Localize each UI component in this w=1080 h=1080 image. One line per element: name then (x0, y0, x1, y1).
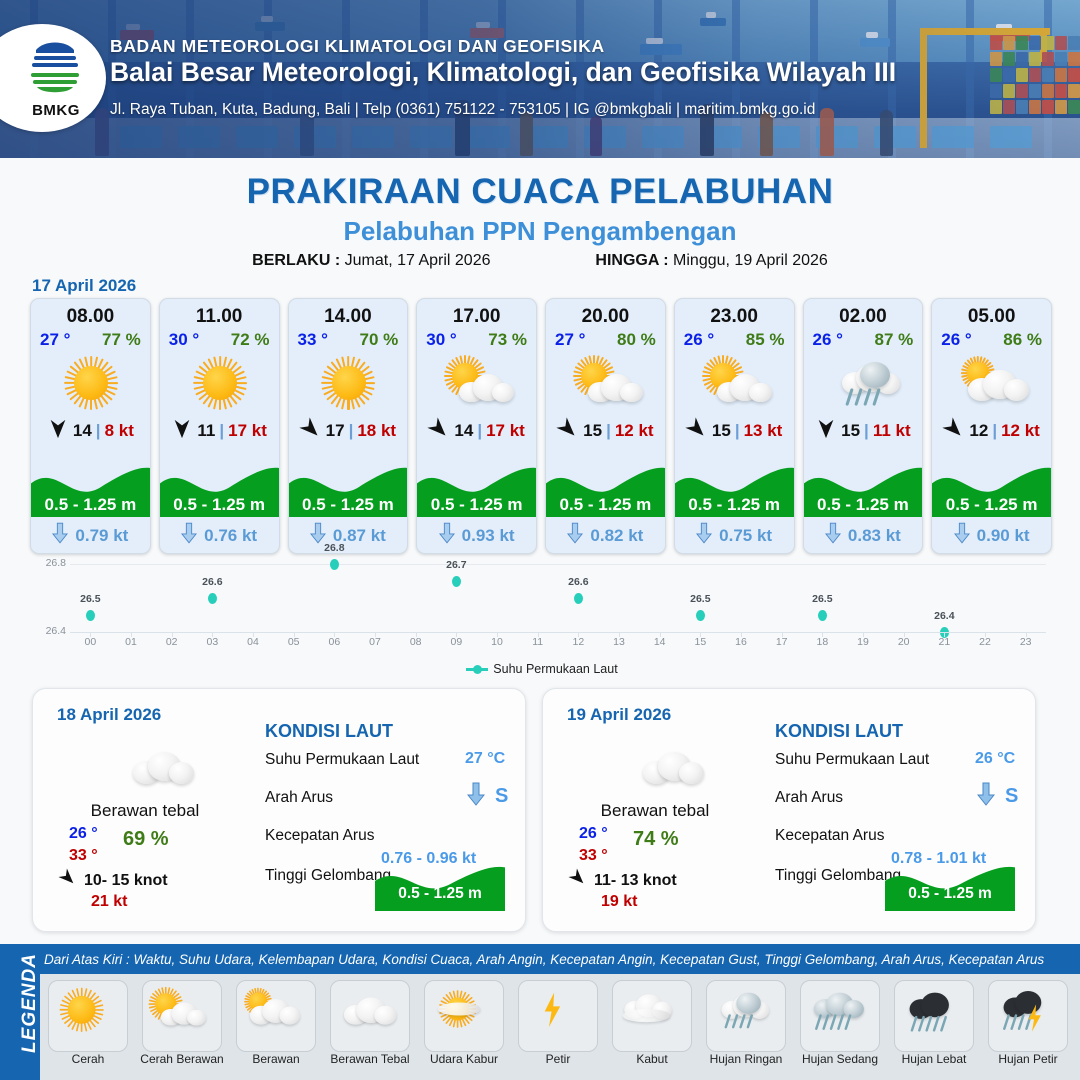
chart-x-tick: 23 (1014, 636, 1038, 648)
header-contact-info: Jl. Raya Tuban, Kuta, Badung, Bali | Tel… (110, 101, 815, 119)
card-wind-row: 12 | 12 kt (932, 416, 1051, 446)
day-wave-height: 0.5 - 1.25 m (375, 885, 505, 903)
card-humidity: 70 % (360, 330, 399, 350)
chart-x-tick: 20 (892, 636, 916, 648)
card-humidity: 73 % (488, 330, 527, 350)
wind-direction-arrow-icon (943, 418, 965, 445)
bmkg-logo-mark (24, 34, 86, 100)
page-subtitle: Pelabuhan PPN Pengambengan (0, 216, 1080, 247)
valid-from-label: BERLAKU : (252, 252, 340, 269)
legend-item-label: Berawan (228, 1052, 324, 1066)
sst-value: 26 °C (975, 750, 1015, 768)
day-temp-min: 26 ° (579, 825, 608, 843)
legend-item-label: Hujan Sedang (792, 1052, 888, 1066)
sea-condition-heading: KONDISI LAUT (775, 721, 903, 742)
daily-forecast-panels: 18 April 2026 Berawan tebal 26 ° 33 ° 69… (32, 688, 1048, 932)
wind-direction-arrow-icon (569, 869, 587, 892)
card-wind-speed: 17 (326, 421, 345, 441)
current-direction-arrow-icon (825, 522, 841, 549)
card-wave-height: 0.5 - 1.25 m (417, 495, 536, 515)
wind-direction-arrow-icon (557, 418, 579, 445)
legend-item: Hujan Lebat (890, 980, 978, 1076)
card-temperature: 27 ° (40, 330, 70, 350)
day-humidity: 69 % (123, 828, 169, 851)
chart-data-point (86, 610, 95, 621)
legend-item-label: Hujan Ringan (698, 1052, 794, 1066)
header-agency-name: BADAN METEOROLOGI KLIMATOLOGI DAN GEOFIS… (110, 36, 605, 57)
card-time: 23.00 (675, 306, 794, 328)
day-gust-speed: 21 kt (91, 893, 127, 911)
card-wind-speed: 15 (841, 421, 860, 441)
legend-items: Cerah Cerah Berawan Berawan Berawan Teba… (44, 980, 1074, 1076)
legend-note: Dari Atas Kiri : Waktu, Suhu Udara, Kele… (44, 952, 1074, 967)
chart-data-point (330, 559, 339, 570)
card-wind-separator: | (477, 421, 482, 441)
wind-direction-arrow-icon (171, 418, 193, 445)
day-wind-speed: 11- 13 knot (594, 872, 677, 890)
chart-data-point (452, 576, 461, 587)
weather-cerah-berawan-icon (546, 352, 665, 414)
current-direction-arrow-icon (439, 522, 455, 549)
card-humidity: 72 % (231, 330, 270, 350)
chart-x-tick: 00 (78, 636, 102, 648)
current-direction-arrow-icon (977, 781, 995, 812)
chart-x-tick: 13 (607, 636, 631, 648)
sst-label: Suhu Permukaan Laut (265, 751, 419, 769)
card-humidity: 80 % (617, 330, 656, 350)
card-wind-speed: 14 (73, 421, 92, 441)
card-current-speed: 0.75 kt (719, 526, 772, 546)
card-gust-speed: 8 kt (105, 421, 134, 441)
card-wind-separator: | (992, 421, 997, 441)
weather-berawan-icon (932, 352, 1051, 414)
card-current-row: 0.76 kt (160, 522, 279, 549)
chart-x-tick: 15 (688, 636, 712, 648)
card-wind-separator: | (219, 421, 224, 441)
card-gust-speed: 12 kt (615, 421, 654, 441)
card-wind-speed: 15 (583, 421, 602, 441)
card-wind-separator: | (864, 421, 869, 441)
chart-x-tick: 19 (851, 636, 875, 648)
weather-hujan-sedang-icon (800, 980, 880, 1052)
daily-forecast-panel[interactable]: 18 April 2026 Berawan tebal 26 ° 33 ° 69… (32, 688, 526, 932)
day-humidity: 74 % (633, 828, 679, 851)
card-current-speed: 0.79 kt (75, 526, 128, 546)
card-temp-hum-row: 27 ° 80 % (546, 328, 665, 350)
chart-point-label: 26.5 (802, 593, 842, 605)
valid-from-value: Jumat, 17 April 2026 (345, 252, 491, 269)
chart-x-tick: 09 (444, 636, 468, 648)
card-wind-row: 15 | 11 kt (804, 416, 923, 446)
card-wind-separator: | (606, 421, 611, 441)
card-wave-height: 0.5 - 1.25 m (932, 495, 1051, 515)
card-temp-hum-row: 33 ° 70 % (289, 328, 408, 350)
forecast-card[interactable]: 17.00 30 ° 73 % 14 | 17 kt 0.5 - 1.25 m (416, 298, 537, 554)
card-current-row: 0.83 kt (804, 522, 923, 549)
legend-item: Berawan (232, 980, 320, 1076)
chart-point-label: 26.6 (192, 576, 232, 588)
day-condition: Berawan tebal (55, 801, 235, 821)
card-time: 02.00 (804, 306, 923, 328)
wave-height-label: Tinggi Gelombang (265, 867, 391, 885)
forecast-card[interactable]: 05.00 26 ° 86 % 12 | 12 kt 0.5 - 1.25 m (931, 298, 1052, 554)
card-wind-separator: | (96, 421, 101, 441)
chart-x-tick: 04 (241, 636, 265, 648)
current-speed-label: Kecepatan Arus (265, 827, 374, 845)
current-direction-value: S (495, 785, 508, 808)
legend-item-label: Petir (510, 1052, 606, 1066)
chart-point-label: 26.8 (314, 542, 354, 554)
card-temp-hum-row: 30 ° 72 % (160, 328, 279, 350)
chart-data-point (818, 610, 827, 621)
legend-item-label: Hujan Lebat (886, 1052, 982, 1066)
chart-x-tick: 16 (729, 636, 753, 648)
card-current-row: 0.82 kt (546, 522, 665, 549)
chart-x-tick: 02 (160, 636, 184, 648)
weather-petir-icon (518, 980, 598, 1052)
card-wave-height: 0.5 - 1.25 m (31, 495, 150, 515)
card-temperature: 30 ° (169, 330, 199, 350)
valid-until-label: HINGGA : (595, 252, 668, 269)
legend-item-label: Hujan Petir (980, 1052, 1076, 1066)
card-humidity: 85 % (746, 330, 785, 350)
card-wave-height: 0.5 - 1.25 m (675, 495, 794, 515)
legend-item-label: Berawan Tebal (322, 1052, 418, 1066)
card-gust-speed: 17 kt (228, 421, 267, 441)
legend-item: Udara Kabur (420, 980, 508, 1076)
legend-item-label: Cerah Berawan (134, 1052, 230, 1066)
current-direction-arrow-icon (567, 522, 583, 549)
header-office-name: Balai Besar Meteorologi, Klimatologi, da… (110, 57, 896, 88)
chart-x-tick: 12 (566, 636, 590, 648)
card-current-speed: 0.93 kt (462, 526, 515, 546)
sea-condition-heading: KONDISI LAUT (265, 721, 393, 742)
current-direction-arrow-icon (181, 522, 197, 549)
day-temp-max: 33 ° (69, 847, 98, 865)
legend-item: Kabut (608, 980, 696, 1076)
card-temp-hum-row: 30 ° 73 % (417, 328, 536, 350)
weather-berawan-tebal-icon (609, 737, 699, 793)
current-direction-arrow-icon (467, 781, 485, 812)
chart-x-tick: 07 (363, 636, 387, 648)
card-time: 20.00 (546, 306, 665, 328)
card-temperature: 26 ° (813, 330, 843, 350)
legend-item-label: Kabut (604, 1052, 700, 1066)
forecast-card[interactable]: 08.00 27 ° 77 % 14 | 8 kt 0.5 - 1.25 m 0… (30, 298, 151, 554)
day-wave-height: 0.5 - 1.25 m (885, 885, 1015, 903)
card-current-row: 0.75 kt (675, 522, 794, 549)
chart-x-tick: 11 (526, 636, 550, 648)
chart-legend: Suhu Permukaan Laut (22, 662, 1062, 676)
forecast-card[interactable]: 23.00 26 ° 85 % 15 | 13 kt 0.5 - 1.25 m (674, 298, 795, 554)
card-temp-hum-row: 26 ° 87 % (804, 328, 923, 350)
wind-direction-arrow-icon (59, 869, 77, 892)
card-gust-speed: 18 kt (357, 421, 396, 441)
chart-data-point (696, 610, 705, 621)
legend-item: Hujan Ringan (702, 980, 790, 1076)
sst-chart: 26.8 26.4 26.5 26.6 26.8 26.7 26.6 26.5 … (22, 558, 1062, 688)
weather-cerah-icon (31, 352, 150, 414)
weather-hujan-lebat-icon (894, 980, 974, 1052)
chart-point-label: 26.7 (436, 559, 476, 571)
card-current-speed: 0.82 kt (590, 526, 643, 546)
card-wind-speed: 12 (969, 421, 988, 441)
weather-cerah-berawan-icon (417, 352, 536, 414)
card-current-speed: 0.76 kt (204, 526, 257, 546)
card-current-speed: 0.90 kt (977, 526, 1030, 546)
card-wind-separator: | (735, 421, 740, 441)
sst-chart-plot: 26.8 26.4 26.5 26.6 26.8 26.7 26.6 26.5 … (70, 564, 1046, 632)
legend-item: Hujan Petir (984, 980, 1072, 1076)
chart-point-label: 26.5 (680, 593, 720, 605)
card-wind-row: 15 | 13 kt (675, 416, 794, 446)
legend-band: LEGENDA (0, 944, 40, 1080)
chart-point-label: 26.6 (558, 576, 598, 588)
chart-legend-marker-icon (466, 665, 488, 674)
day-condition: Berawan tebal (565, 801, 745, 821)
daily-forecast-panel[interactable]: 19 April 2026 Berawan tebal 26 ° 33 ° 74… (542, 688, 1036, 932)
chart-x-tick: 05 (282, 636, 306, 648)
card-time: 17.00 (417, 306, 536, 328)
chart-x-tick: 08 (404, 636, 428, 648)
card-wind-speed: 15 (712, 421, 731, 441)
card-temperature: 27 ° (555, 330, 585, 350)
chart-x-tick: 06 (322, 636, 346, 648)
weather-cerah-icon (48, 980, 128, 1052)
chart-x-tick: 17 (770, 636, 794, 648)
card-wind-row: 15 | 12 kt (546, 416, 665, 446)
chart-x-tick: 01 (119, 636, 143, 648)
weather-berawan-icon (236, 980, 316, 1052)
card-gust-speed: 17 kt (486, 421, 525, 441)
card-current-row: 0.79 kt (31, 522, 150, 549)
day-date: 19 April 2026 (567, 705, 671, 725)
card-wind-speed: 14 (454, 421, 473, 441)
card-temp-hum-row: 26 ° 86 % (932, 328, 1051, 350)
chart-x-tick: 10 (485, 636, 509, 648)
card-temp-hum-row: 26 ° 85 % (675, 328, 794, 350)
day-wind-row: 10- 15 knot (59, 869, 168, 892)
current-direction-label: Arah Arus (775, 789, 843, 807)
sst-value: 27 °C (465, 750, 505, 768)
card-gust-speed: 13 kt (744, 421, 783, 441)
card-time: 05.00 (932, 306, 1051, 328)
card-gust-speed: 11 kt (873, 421, 911, 441)
day-gust-speed: 19 kt (601, 893, 637, 911)
legend-item: Petir (514, 980, 602, 1076)
card-wave-height: 0.5 - 1.25 m (546, 495, 665, 515)
forecast-card[interactable]: 20.00 27 ° 80 % 15 | 12 kt 0.5 - 1.25 m (545, 298, 666, 554)
current-direction-value: S (1005, 785, 1018, 808)
forecast-date-label: 17 April 2026 (32, 276, 136, 296)
chart-data-point (208, 593, 217, 604)
chart-y-tick: 26.4 (26, 625, 66, 637)
card-wind-row: 14 | 8 kt (31, 416, 150, 446)
weather-hujan-ringan-icon (706, 980, 786, 1052)
card-humidity: 77 % (102, 330, 141, 350)
chart-data-point (574, 593, 583, 604)
card-humidity: 87 % (875, 330, 914, 350)
weather-cerah-berawan-icon (675, 352, 794, 414)
valid-until-value: Minggu, 19 April 2026 (673, 252, 828, 269)
card-time: 08.00 (31, 306, 150, 328)
card-current-speed: 0.83 kt (848, 526, 901, 546)
current-speed-label: Kecepatan Arus (775, 827, 884, 845)
card-wind-row: 11 | 17 kt (160, 416, 279, 446)
legend-item-label: Udara Kabur (416, 1052, 512, 1066)
current-direction-arrow-icon (954, 522, 970, 549)
wind-direction-arrow-icon (815, 418, 837, 445)
weather-udara-kabur-icon (424, 980, 504, 1052)
card-wave-height: 0.5 - 1.25 m (289, 495, 408, 515)
card-current-row: 0.90 kt (932, 522, 1051, 549)
weather-berawan-tebal-icon (330, 980, 410, 1052)
weather-hujan-ringan-icon (804, 352, 923, 414)
legend-title: LEGENDA (19, 935, 41, 1071)
card-time: 14.00 (289, 306, 408, 328)
validity-row: BERLAKU : Jumat, 17 April 2026 HINGGA : … (0, 252, 1080, 270)
day-date: 18 April 2026 (57, 705, 161, 725)
weather-berawan-tebal-icon (99, 737, 189, 793)
card-temperature: 33 ° (298, 330, 328, 350)
card-wind-row: 17 | 18 kt (289, 416, 408, 446)
wind-direction-arrow-icon (428, 418, 450, 445)
wind-direction-arrow-icon (47, 418, 69, 445)
forecast-card[interactable]: 11.00 30 ° 72 % 11 | 17 kt 0.5 - 1.25 m … (159, 298, 280, 554)
wind-direction-arrow-icon (300, 418, 322, 445)
wave-height-label: Tinggi Gelombang (775, 867, 901, 885)
chart-point-label: 26.4 (924, 610, 964, 622)
chart-point-label: 26.5 (70, 593, 110, 605)
current-direction-label: Arah Arus (265, 789, 333, 807)
card-current-row: 0.93 kt (417, 522, 536, 549)
hourly-forecast-cards: 08.00 27 ° 77 % 14 | 8 kt 0.5 - 1.25 m 0… (30, 298, 1052, 554)
current-direction-arrow-icon (696, 522, 712, 549)
chart-x-axis (70, 632, 1046, 633)
card-temperature: 26 ° (684, 330, 714, 350)
card-gust-speed: 12 kt (1001, 421, 1040, 441)
weather-kabut-icon (612, 980, 692, 1052)
card-wind-row: 14 | 17 kt (417, 416, 536, 446)
chart-x-tick: 21 (932, 636, 956, 648)
day-temp-min: 26 ° (69, 825, 98, 843)
weather-cerah-berawan-icon (142, 980, 222, 1052)
card-humidity: 86 % (1003, 330, 1042, 350)
chart-x-tick: 22 (973, 636, 997, 648)
card-wind-speed: 11 (197, 421, 215, 441)
page-title: PRAKIRAAN CUACA PELABUHAN (0, 172, 1080, 212)
chart-x-tick: 03 (200, 636, 224, 648)
card-temp-hum-row: 27 ° 77 % (31, 328, 150, 350)
legend-item-label: Cerah (40, 1052, 136, 1066)
card-temperature: 30 ° (426, 330, 456, 350)
weather-cerah-icon (160, 352, 279, 414)
card-wave-height: 0.5 - 1.25 m (804, 495, 923, 515)
chart-legend-label: Suhu Permukaan Laut (493, 662, 617, 676)
day-temp-max: 33 ° (579, 847, 608, 865)
card-temperature: 26 ° (941, 330, 971, 350)
chart-x-tick: 14 (648, 636, 672, 648)
chart-x-tick: 18 (810, 636, 834, 648)
sst-label: Suhu Permukaan Laut (775, 751, 929, 769)
current-direction-arrow-icon (52, 522, 68, 549)
day-wind-speed: 10- 15 knot (84, 872, 168, 890)
legend-item: Cerah Berawan (138, 980, 226, 1076)
bmkg-logo-text: BMKG (14, 102, 98, 119)
card-wave-height: 0.5 - 1.25 m (160, 495, 279, 515)
legend-item: Cerah (44, 980, 132, 1076)
weather-cerah-icon (289, 352, 408, 414)
weather-hujan-petir-icon (988, 980, 1068, 1052)
forecast-card[interactable]: 02.00 26 ° 87 % 15 | 11 kt 0.5 - 1.25 m (803, 298, 924, 554)
card-wind-separator: | (349, 421, 354, 441)
day-wind-row: 11- 13 knot (569, 869, 677, 892)
chart-y-tick: 26.8 (26, 557, 66, 569)
legend-item: Berawan Tebal (326, 980, 414, 1076)
card-time: 11.00 (160, 306, 279, 328)
legend-item: Hujan Sedang (796, 980, 884, 1076)
forecast-card[interactable]: 14.00 33 ° 70 % 17 | 18 kt 0.5 - 1.25 m … (288, 298, 409, 554)
page-header: BMKG BADAN METEOROLOGI KLIMATOLOGI DAN G… (0, 0, 1080, 158)
wind-direction-arrow-icon (686, 418, 708, 445)
